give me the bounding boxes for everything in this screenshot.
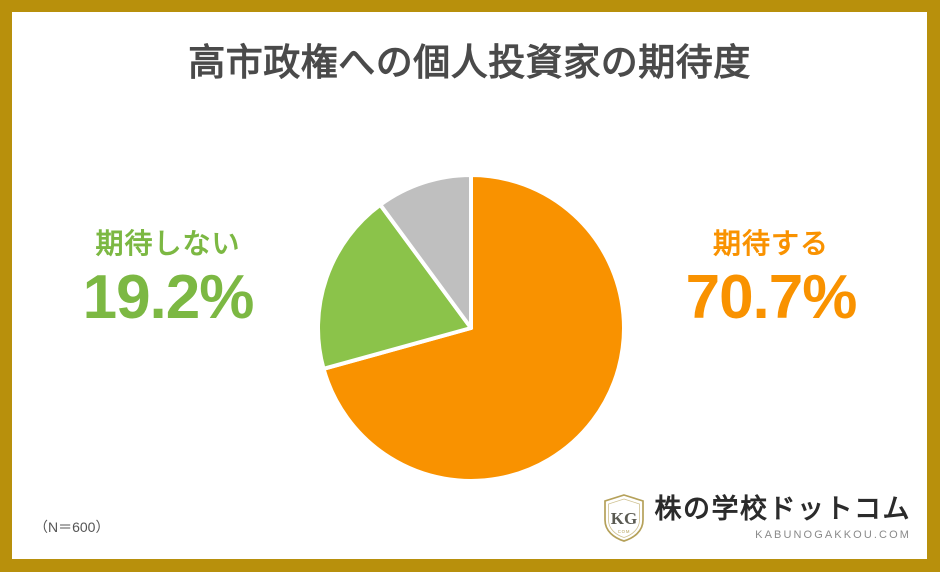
- infographic-frame: 高市政権への個人投資家の期待度 期待しない 19.2% 期待する 70.7% （…: [0, 0, 940, 572]
- callout-expect: 期待する 70.7%: [633, 230, 909, 329]
- callout-expect-not-label: 期待しない: [30, 230, 306, 258]
- brand-domain: KABUNOGAKKOU.COM: [755, 529, 911, 541]
- pie-chart: [318, 175, 624, 481]
- page-title: 高市政権への個人投資家の期待度: [12, 42, 927, 85]
- pie-chart-svg: [318, 175, 624, 481]
- brand-name: 株の学校ドットコム: [655, 495, 912, 525]
- svg-text:COM: COM: [617, 529, 629, 534]
- sample-size-note: （N＝600）: [34, 517, 109, 537]
- svg-text:KG: KG: [610, 509, 636, 528]
- callout-expect-value: 70.7%: [633, 267, 909, 329]
- pie-slice-group: [318, 175, 624, 481]
- callout-expect-not-value: 19.2%: [30, 267, 306, 329]
- brand-text-block: 株の学校ドットコム KABUNOGAKKOU.COM: [655, 495, 912, 541]
- callout-expect-not: 期待しない 19.2%: [30, 230, 306, 329]
- brand-logo: KG COM 株の学校ドットコム KABUNOGAKKOU.COM: [602, 493, 912, 543]
- shield-icon: KG COM: [602, 493, 646, 543]
- callout-expect-label: 期待する: [633, 230, 909, 258]
- infographic-canvas: 高市政権への個人投資家の期待度 期待しない 19.2% 期待する 70.7% （…: [12, 12, 927, 559]
